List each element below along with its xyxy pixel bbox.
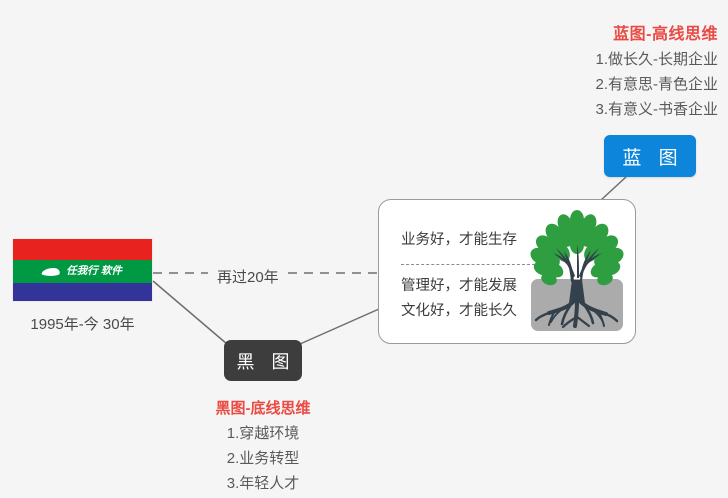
company-logo[interactable]: 任我行 软件 [13, 239, 152, 301]
swoosh-mark-icon [41, 268, 61, 276]
logo-band-green: 任我行 软件 [13, 260, 152, 283]
logo-caption: 1995年-今 30年 [13, 313, 152, 334]
blackprint-note-item-2: 2.业务转型 [183, 446, 343, 471]
blackprint-note-headline: 黑图-底线思维 [183, 396, 343, 421]
blueprint-note-item-2: 2.有意思-青色企业 [538, 72, 718, 97]
mindmap-canvas: 蓝图-高线思维 1.做长久-长期企业 2.有意思-青色企业 3.有意义-书香企业… [0, 0, 728, 498]
blackprint-note: 黑图-底线思维 1.穿越环境 2.业务转型 3.年轻人才 [183, 396, 343, 496]
blueprint-note-item-1: 1.做长久-长期企业 [538, 47, 718, 72]
blackprint-node-button[interactable]: 黑 图 [224, 340, 302, 381]
philosophy-card: 业务好，才能生存 管理好，才能发展 文化好，才能长久 [378, 199, 636, 344]
blackprint-note-item-3: 3.年轻人才 [183, 471, 343, 496]
blackprint-note-item-1: 1.穿越环境 [183, 421, 343, 446]
edge-blackprint-to-card [300, 309, 379, 344]
blueprint-note-item-3: 3.有意义-书香企业 [538, 97, 718, 122]
timeline-era-label: 再过20年 [210, 266, 286, 287]
philosophy-divider [401, 264, 535, 265]
blueprint-node-button[interactable]: 蓝 图 [604, 135, 696, 177]
blueprint-note-headline: 蓝图-高线思维 [538, 22, 718, 47]
blueprint-note: 蓝图-高线思维 1.做长久-长期企业 2.有意思-青色企业 3.有意义-书香企业 [538, 22, 718, 122]
logo-brand-text: 任我行 软件 [66, 266, 122, 277]
company-logo-block: 任我行 软件 1995年-今 30年 [13, 239, 152, 334]
logo-band-red [13, 239, 152, 260]
edge-logo-to-blackprint [153, 281, 227, 344]
tree-with-roots-icon [525, 206, 629, 339]
logo-band-blue [13, 283, 152, 301]
